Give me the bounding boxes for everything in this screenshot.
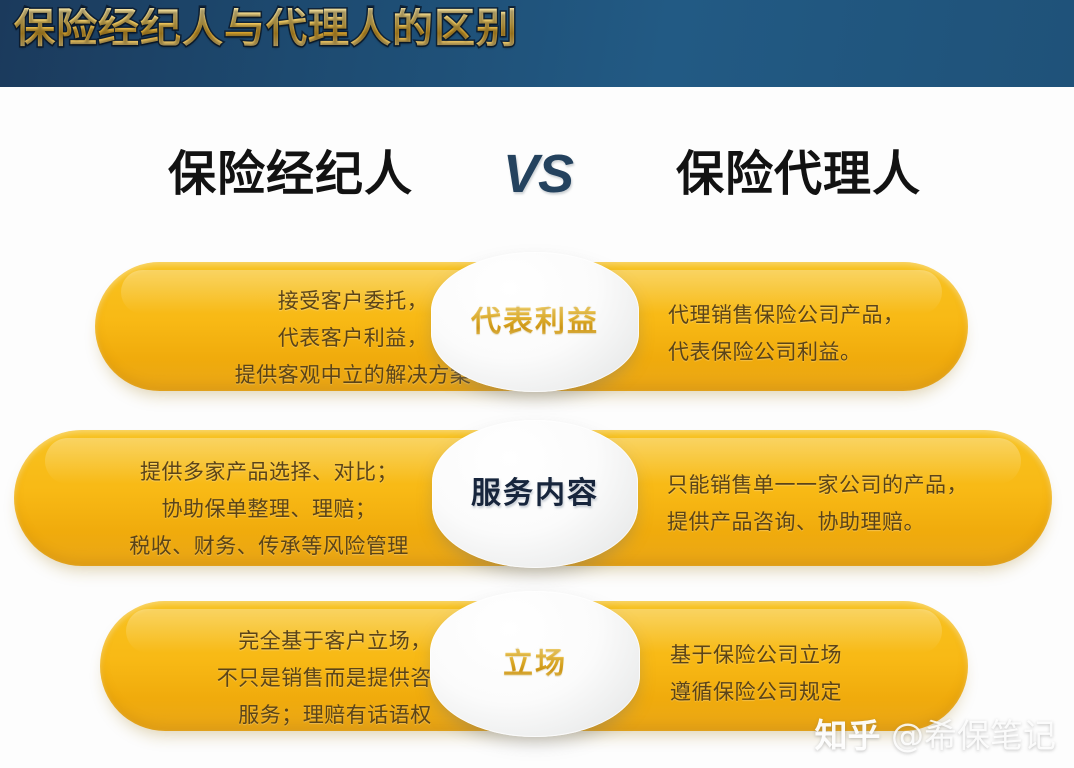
row-2-badge: 服务内容 [432, 420, 638, 568]
row-1-badge: 代表利益 [431, 252, 639, 392]
watermark-account: @希保笔记 [891, 716, 1056, 755]
row-3-right-text: 基于保险公司立场 遵循保险公司规定 [670, 637, 960, 711]
row-1-right-line-2: 代表保险公司利益。 [668, 334, 958, 371]
vs-label: VS [503, 147, 573, 201]
row-2-right-line-2: 提供产品咨询、协助理赔。 [667, 504, 1017, 541]
row-2-right-text: 只能销售单一一家公司的产品， 提供产品咨询、协助理赔。 [667, 467, 1017, 541]
row-3-badge: 立场 [430, 591, 640, 737]
comparison-row-3: 完全基于客户立场， 不只是销售而是提供咨询 服务；理赔有话语权 立场 基于保险公… [100, 601, 968, 731]
comparison-row-2: 提供多家产品选择、对比； 协助保单整理、理赔； 税收、财务、传承等风险管理 服务… [14, 430, 1052, 566]
row-3-badge-label: 立场 [503, 649, 567, 679]
slide-root: 保险经纪人与代理人的区别 保险经纪人与代理人的区别 保险经纪人 VS 保险代理人… [0, 0, 1074, 768]
row-2-left-text: 提供多家产品选择、对比； 协助保单整理、理赔； 税收、财务、传承等风险管理 [69, 454, 469, 565]
page-title: 保险经纪人与代理人的区别 [14, 8, 518, 49]
watermark: 知乎 @希保笔记 [815, 719, 1057, 752]
row-2-left-line-3: 税收、财务、传承等风险管理 [69, 528, 469, 565]
row-2-left-line-1: 提供多家产品选择、对比； [69, 454, 469, 491]
row-2-badge-label: 服务内容 [471, 479, 599, 509]
comparison-heading: 保险经纪人 VS 保险代理人 [0, 140, 1074, 228]
row-3-right-line-2: 遵循保险公司规定 [670, 674, 960, 711]
row-1-badge-label: 代表利益 [471, 307, 599, 337]
comparison-row-1: 接受客户委托， 代表客户利益， 提供客观中立的解决方案 代表利益 代理销售保险公… [95, 262, 968, 391]
row-1-right-line-1: 代理销售保险公司产品， [668, 297, 958, 334]
header-bar: 保险经纪人与代理人的区别 保险经纪人与代理人的区别 [0, 0, 1074, 87]
row-1-right-text: 代理销售保险公司产品， 代表保险公司利益。 [668, 297, 958, 371]
row-2-right-line-1: 只能销售单一一家公司的产品， [667, 467, 1017, 504]
party-label-right: 保险代理人 [676, 150, 921, 198]
row-3-right-line-1: 基于保险公司立场 [670, 637, 960, 674]
watermark-platform: 知乎 [815, 716, 881, 755]
row-2-left-line-2: 协助保单整理、理赔； [69, 491, 469, 528]
party-label-left: 保险经纪人 [168, 150, 413, 198]
